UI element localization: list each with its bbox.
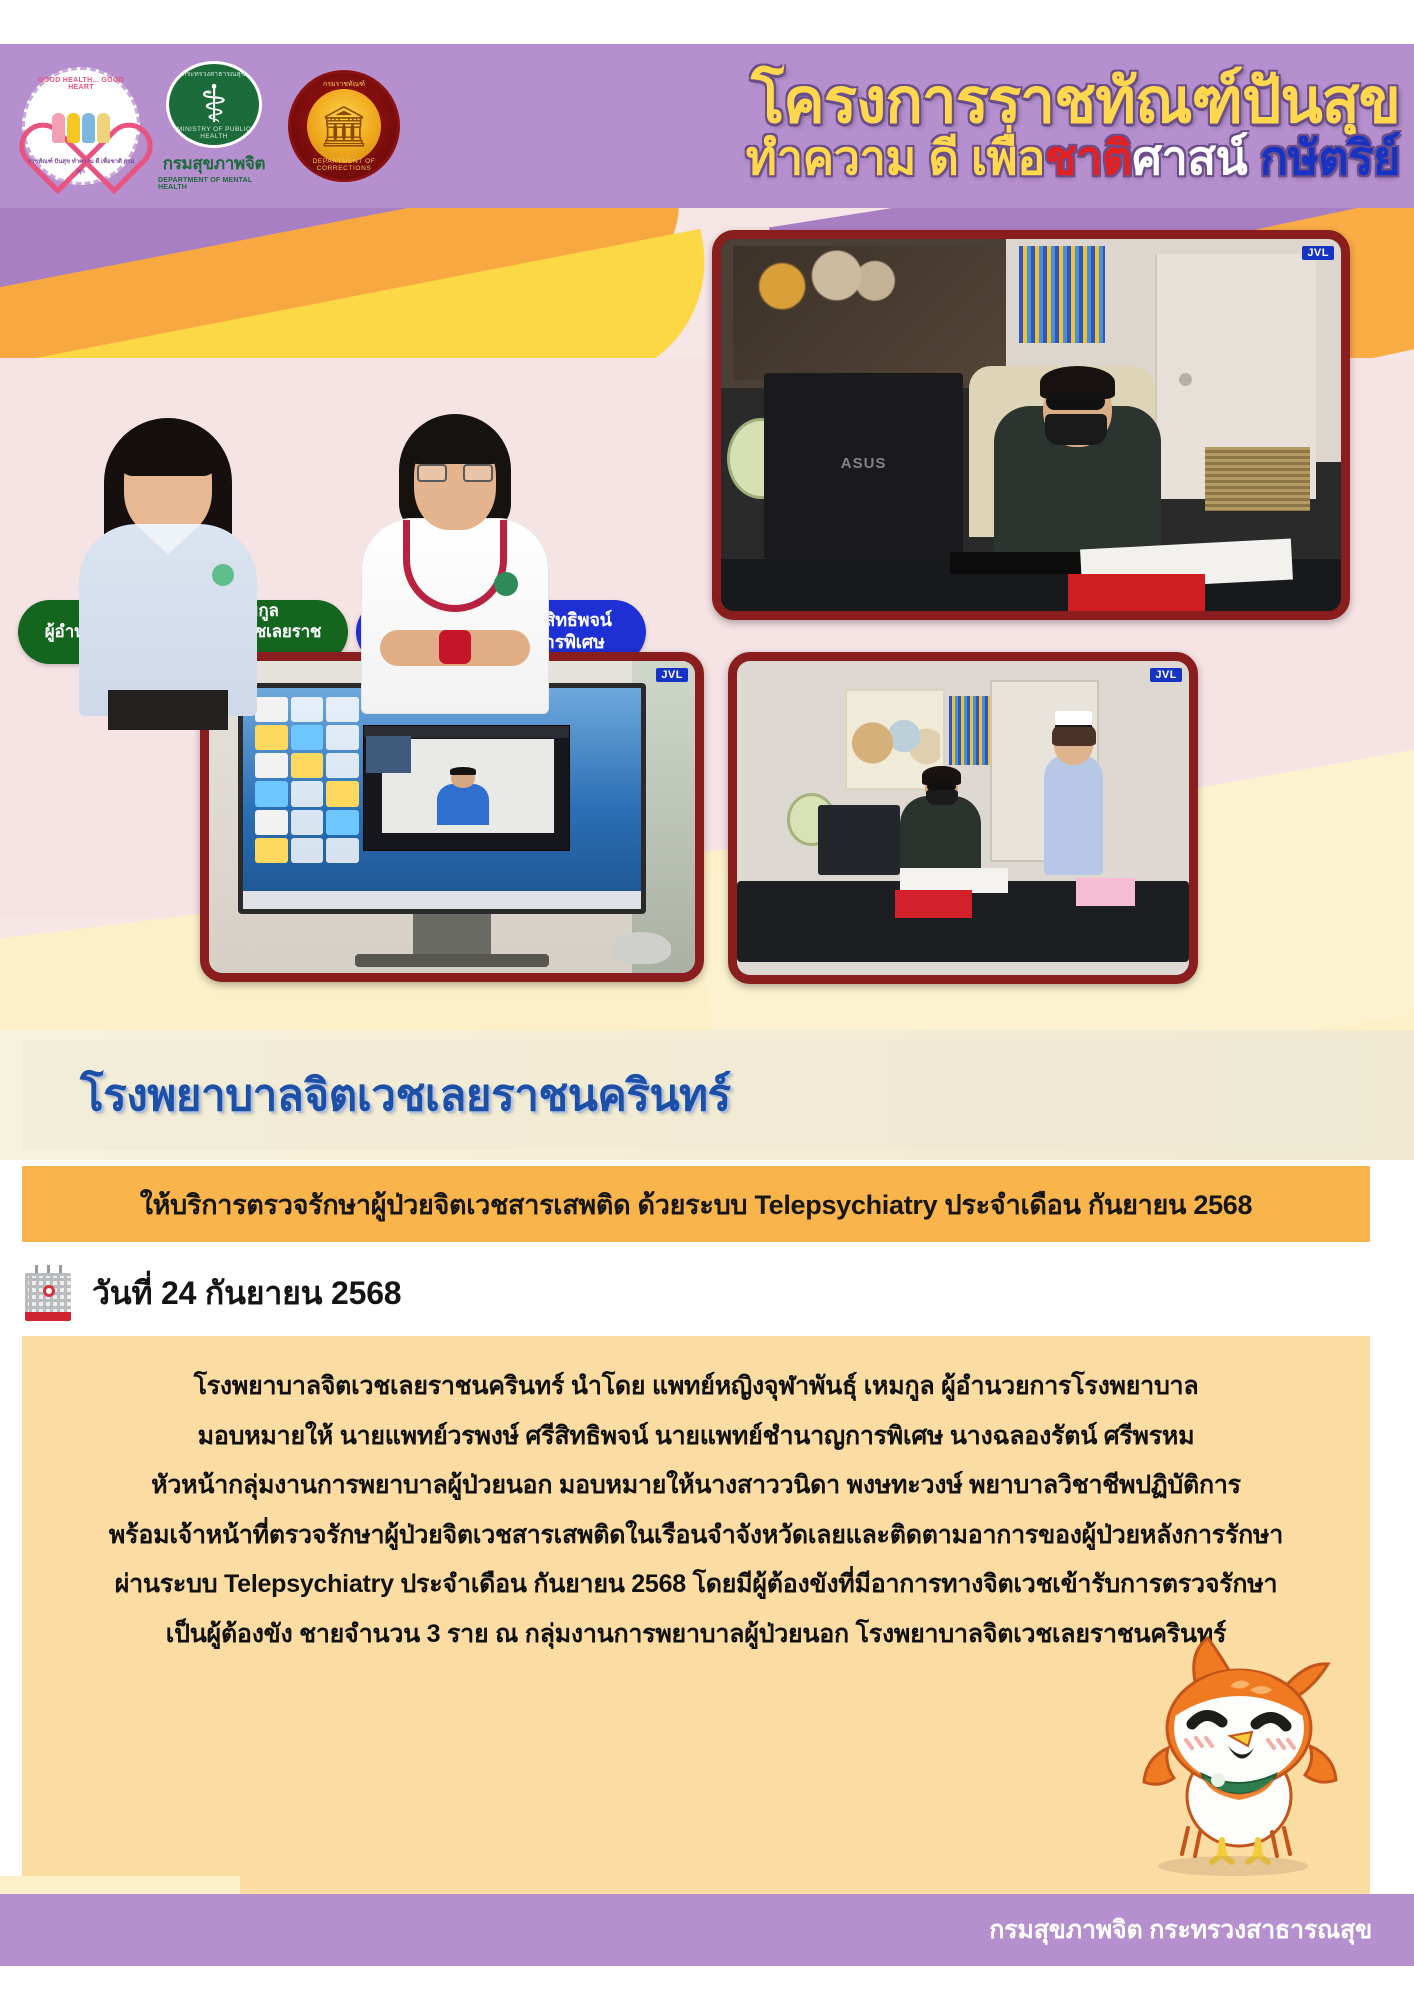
subtitle-part-king: กษัตริย์ — [1260, 131, 1400, 184]
computer-mouse-icon — [612, 932, 670, 963]
body-text-card: โรงพยาบาลจิตเวชเลยราชนครินทร์ นำโดย แพทย… — [22, 1336, 1370, 1896]
glasses-icon — [417, 464, 493, 482]
tissue-box — [1076, 878, 1135, 906]
gh-logo-bottom-text: ราชทัณฑ์ ปันสุข ทำความ ดี เพื่อชาติ กรมค… — [25, 156, 137, 176]
photo-patient-at-computer: ASUS JVL — [712, 230, 1350, 620]
footer-corner-tab — [0, 1876, 240, 1894]
photo-scene — [737, 661, 1189, 975]
hospital-name: โรงพยาบาลจิตเวชเลยราชนครินทร์ — [80, 1060, 731, 1130]
uniform-badge-icon — [494, 572, 518, 596]
department-of-corrections-logo-icon: กรมราชทัณฑ์ 🏛 DEPARTMENT OF CORRECTIONS — [288, 70, 400, 182]
face-mask-icon — [1045, 414, 1107, 446]
lanyards — [949, 696, 990, 765]
header-banner: GOOD HEALTH... GOOD HEART ราชทัณฑ์ ปันสุ… — [0, 44, 1414, 208]
event-date: วันที่ 24 กันยายน 2568 — [92, 1268, 401, 1319]
laptop-icon — [818, 805, 899, 874]
service-subtitle-text: ให้บริการตรวจรักษาผู้ป่วยจิตเวชสารเสพติด… — [22, 1166, 1370, 1242]
body-line: มอบหมายให้ นายแพทย์วรพงษ์ ศรีสิทธิพจน์ น… — [48, 1412, 1344, 1462]
moph-ring-bottom-text: MINISTRY OF PUBLIC HEALTH — [169, 126, 259, 140]
shelf-clutter — [733, 246, 1006, 380]
subtitle-part-1: ทำความ ดี เพื่อ — [746, 131, 1045, 184]
plush-toys — [850, 705, 940, 774]
face-mask-icon — [926, 790, 958, 806]
calendar-icon — [22, 1265, 74, 1321]
portrait-physician — [350, 412, 560, 712]
nurse-uniform — [1044, 755, 1103, 874]
header-title-group: โครงการราชทัณฑ์ปันสุข ทำความ ดี เพื่อชาต… — [400, 70, 1414, 183]
body-line: ผ่านระบบ Telepsychiatry ประจำเดือน กันยา… — [48, 1560, 1344, 1610]
wall-vent — [1205, 447, 1310, 510]
project-title: โครงการราชทัณฑ์ปันสุข — [400, 70, 1400, 133]
service-subtitle-bar: ให้บริการตรวจรักษาผู้ป่วยจิตเวชสารเสพติด… — [22, 1166, 1370, 1242]
footer-bar: กรมสุขภาพจิต กระทรวงสาธารณสุข — [0, 1894, 1414, 1966]
picture-in-picture-feed — [366, 736, 411, 773]
hospital-title-band: โรงพยาบาลจิตเวชเลยราชนครินทร์ — [0, 1030, 1414, 1160]
asus-monitor: ASUS — [764, 373, 962, 559]
good-health-good-heart-logo-icon: GOOD HEALTH... GOOD HEART ราชทัณฑ์ ปันสุ… — [22, 67, 140, 185]
body-line: พร้อมเจ้าหน้าที่ตรวจรักษาผู้ป่วยจิตเวชสา… — [48, 1511, 1344, 1561]
poster: GOOD HEALTH... GOOD HEART ราชทัณฑ์ ปันสุ… — [0, 0, 1414, 2000]
jvl-watermark: JVL — [1150, 668, 1182, 682]
ministry-of-public-health-logo-icon: กระทรวงสาธารณสุข MINISTRY OF PUBLIC HEAL… — [158, 61, 270, 191]
wristwatch-icon — [439, 630, 471, 664]
doc-ring-top-text: กรมราชทัณฑ์ — [291, 79, 397, 90]
date-row: วันที่ 24 กันยายน 2568 — [22, 1258, 1370, 1328]
desktop-monitor — [238, 683, 646, 914]
remote-patient-hair — [450, 767, 477, 775]
garuda-emblem-icon: 🏛 — [307, 89, 381, 163]
hair-front — [408, 420, 502, 464]
moph-ring-top-text: กระทรวงสาธารณสุข — [169, 69, 259, 80]
patient-body — [900, 796, 981, 878]
subtitle-part-religion: ศาสน์ — [1132, 131, 1247, 184]
lanyards — [1019, 246, 1106, 343]
moph-name-en: DEPARTMENT OF MENTAL HEALTH — [158, 177, 270, 191]
photo-stage: แพทย์หญิงจุฬาพันธุ์ เหมกูล ผู้อำนวยการโร… — [0, 208, 1414, 1030]
red-folder — [895, 890, 972, 918]
gh-logo-top-text: GOOD HEALTH... GOOD HEART — [25, 77, 137, 91]
jvl-watermark: JVL — [656, 668, 688, 682]
body-paragraph: โรงพยาบาลจิตเวชเลยราชนครินทร์ นำโดย แพทย… — [22, 1362, 1370, 1659]
monitor-base — [355, 954, 549, 966]
body-line: โรงพยาบาลจิตเวชเลยราชนครินทร์ นำโดย แพทย… — [48, 1362, 1344, 1412]
skirt — [108, 690, 228, 730]
jvl-watermark: JVL — [1302, 246, 1334, 260]
red-folder — [1068, 574, 1204, 611]
children-icon — [52, 113, 110, 143]
photo-scene: ASUS — [721, 239, 1341, 611]
remote-patient-body — [437, 784, 489, 825]
moph-seal-icon: กระทรวงสาธารณสุข MINISTRY OF PUBLIC HEAL… — [166, 61, 262, 148]
doc-ring-bottom-text: DEPARTMENT OF CORRECTIONS — [291, 158, 397, 172]
subtitle-part-nation: ชาติ — [1045, 131, 1132, 184]
nurse-cap-icon — [1055, 711, 1092, 727]
sunglasses-icon — [1046, 393, 1105, 410]
desktop-icons — [255, 697, 359, 891]
asus-logo-icon: ASUS — [841, 455, 887, 472]
body-line: หัวหน้ากลุ่มงานการพยาบาลผู้ป่วยนอก มอบหม… — [48, 1461, 1344, 1511]
uniform-badge-icon — [212, 564, 234, 586]
footer-text: กรมสุขภาพจิต กระทรวงสาธารณสุข — [989, 1910, 1372, 1950]
moph-name-th: กรมสุขภาพจิต — [163, 150, 266, 177]
monitor-screen — [243, 688, 641, 909]
moph-ring: กระทรวงสาธารณสุข MINISTRY OF PUBLIC HEAL… — [169, 64, 259, 145]
video-call-window[interactable] — [363, 725, 570, 851]
photo-nurse-and-patient: JVL — [728, 652, 1198, 984]
taskbar[interactable] — [243, 891, 641, 909]
portrait-director — [68, 412, 268, 712]
owl-mascot-icon — [1134, 1628, 1344, 1878]
project-subtitle: ทำความ ดี เพื่อชาติศาสน์ กษัตริย์ — [400, 133, 1400, 182]
monitor-stand — [413, 914, 491, 958]
logo-group: GOOD HEALTH... GOOD HEART ราชทัณฑ์ ปันสุ… — [0, 61, 400, 191]
hair-front — [119, 424, 217, 476]
